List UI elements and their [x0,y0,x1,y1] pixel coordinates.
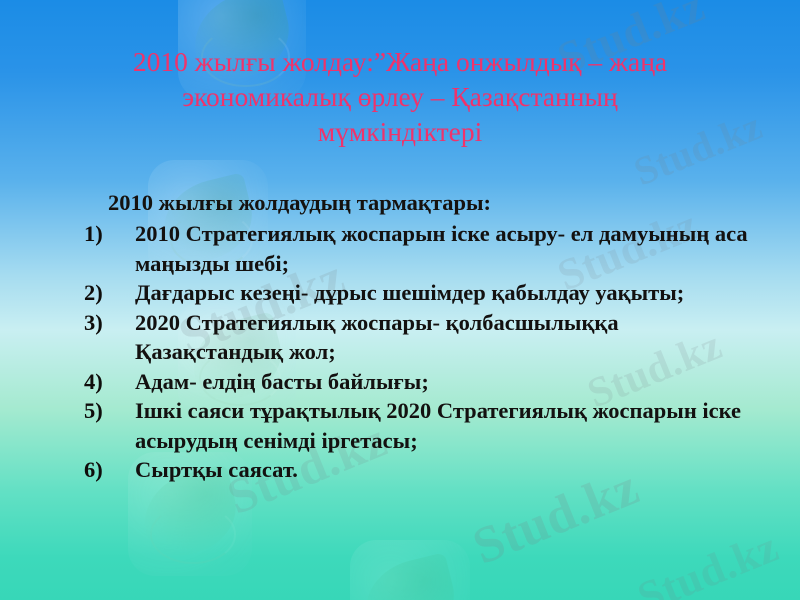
slide-canvas: Stud.kzStud.kzStud.kzStud.kzStud.kzStud.… [0,0,800,600]
list-item: 6) Сыртқы саясат. [56,455,756,485]
slide-content: 2010 жылғы жолдау:”Жаңа онжылдық – жаңа … [0,0,800,600]
title-line-1: 2010 жылғы жолдау:”Жаңа онжылдық – жаңа [56,44,744,79]
list-item-marker: 3) [84,308,118,338]
list-item-marker: 4) [84,367,118,397]
list-item: 1) 2010 Стратегиялық жоспарын іске асыру… [56,219,756,278]
list-item-text: Адам- елдің басты байлығы; [135,367,756,397]
list-item-text: Сыртқы саясат. [135,455,756,485]
list-item: 4) Адам- елдің басты байлығы; [56,367,756,397]
list-item-text: Ішкі саяси тұрақтылық 2020 Стратегиялық … [135,396,756,455]
numbered-list: 1) 2010 Стратегиялық жоспарын іске асыру… [56,219,756,485]
list-item-text: Дағдарыс кезеңі- дұрыс шешімдер қабылдау… [135,278,756,308]
list-heading: 2010 жылғы жолдаудың тармақтары: [108,188,756,217]
list-item: 2) Дағдарыс кезеңі- дұрыс шешімдер қабыл… [56,278,756,308]
list-item-marker: 5) [84,396,118,426]
title-line-3: мүмкіндіктері [56,114,744,149]
slide-body: 2010 жылғы жолдаудың тармақтары: 1) 2010… [56,188,756,485]
list-item-marker: 2) [84,278,118,308]
list-item-text: 2010 Стратегиялық жоспарын іске асыру- е… [135,219,756,278]
list-item-marker: 1) [84,219,118,249]
slide-title: 2010 жылғы жолдау:”Жаңа онжылдық – жаңа … [56,44,744,149]
list-item: 5) Ішкі саяси тұрақтылық 2020 Стратегиял… [56,396,756,455]
list-item-marker: 6) [84,455,118,485]
list-item: 3) 2020 Стратегиялық жоспары- қолбасшылы… [56,308,756,367]
list-item-text: 2020 Стратегиялық жоспары- қолбасшылыққа… [135,308,756,367]
title-line-2: экономикалық өрлеу – Қазақстанның [56,79,744,114]
